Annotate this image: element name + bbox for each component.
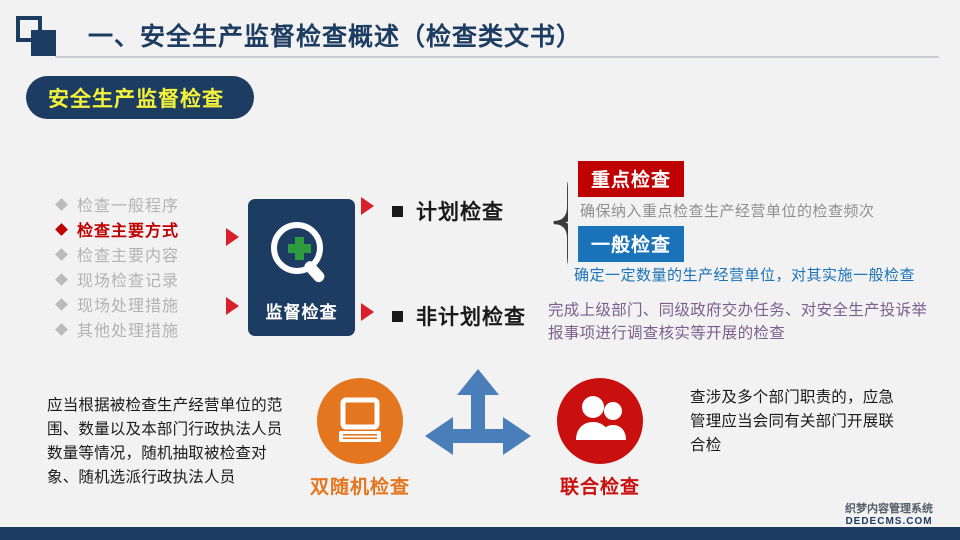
square-bullet-icon: [392, 311, 403, 322]
nav-item-site-measures[interactable]: 现场处理措施: [57, 292, 227, 316]
watermark-en-text: DEDECMS.COM: [845, 516, 933, 527]
diamond-bullet-icon: [55, 198, 68, 211]
title-divider: [55, 56, 939, 58]
double-random-inspection-block[interactable]: 双随机检查: [310, 378, 410, 499]
supervision-inspection-card[interactable]: 监督检查: [248, 199, 355, 336]
nav-item-general-procedure[interactable]: 检查一般程序: [57, 192, 227, 216]
nav-item-other-measures[interactable]: 其他处理措施: [57, 317, 227, 341]
nav-item-label: 现场处理措施: [77, 292, 179, 316]
joint-inspection-label: 联合检查: [557, 472, 643, 499]
badge-general-description: 确定一定数量的生产经营单位，对其实施一般检查: [574, 264, 915, 285]
magnifier-plus-icon: [266, 219, 338, 290]
red-arrow-right-icon: [361, 197, 374, 215]
double-random-label: 双随机检查: [310, 472, 410, 499]
square-filled-shape: [31, 30, 56, 56]
nav-item-label: 检查主要内容: [77, 242, 179, 266]
diamond-bullet-icon: [55, 298, 68, 311]
square-bullet-icon: [392, 206, 403, 217]
branch-planned-inspection: 计划检查: [392, 196, 504, 226]
diamond-bullet-icon: [55, 248, 68, 261]
branch-label: 非计划检查: [416, 301, 526, 331]
nav-item-label: 现场检查记录: [77, 267, 179, 291]
tri-directional-arrow-icon: [423, 367, 533, 472]
supervision-card-label: 监督检查: [248, 298, 355, 323]
curly-brace-icon: {: [542, 160, 568, 280]
unplanned-inspection-note: 完成上级部门、同级政府交办任务、对安全生产投诉举报事项进行调查核实等开展的检查: [548, 299, 940, 345]
computer-icon: [317, 378, 403, 464]
nav-item-label: 其他处理措施: [77, 317, 179, 341]
badge-label: 一般检查: [591, 235, 671, 256]
badge-general-inspection: 一般检查: [578, 226, 684, 262]
watermark: 织梦内容管理系统 DEDECMS.COM: [845, 500, 933, 527]
diamond-bullet-icon: [55, 223, 68, 236]
footer-bar: [0, 527, 960, 540]
overlapping-squares-icon: [16, 16, 62, 56]
branch-label: 计划检查: [416, 196, 504, 226]
nav-item-label: 检查一般程序: [77, 192, 179, 216]
two-people-icon: [557, 378, 643, 464]
red-arrow-right-icon: [226, 228, 239, 246]
nav-item-main-content[interactable]: 检查主要内容: [57, 242, 227, 266]
branch-unplanned-inspection: 非计划检查: [392, 301, 526, 331]
badge-key-description: 确保纳入重点检查生产经营单位的检查频次: [580, 200, 875, 221]
slide-canvas: 一、安全生产监督检查概述（检查类文书） 安全生产监督检查 检查一般程序 检查主要…: [0, 0, 960, 540]
nav-item-site-record[interactable]: 现场检查记录: [57, 267, 227, 291]
red-arrow-right-icon: [226, 297, 239, 315]
red-arrow-right-icon: [361, 303, 374, 321]
nav-list: 检查一般程序 检查主要方式 检查主要内容 现场检查记录 现场处理措施 其他处理措…: [57, 192, 227, 342]
nav-item-label: 检查主要方式: [77, 217, 179, 241]
nav-item-main-methods[interactable]: 检查主要方式: [57, 217, 227, 241]
badge-key-inspection: 重点检查: [578, 161, 684, 197]
diamond-bullet-icon: [55, 323, 68, 336]
random-inspection-description: 应当根据被检查生产经营单位的范围、数量以及本部门行政执法人员数量等情况，随机抽取…: [47, 394, 287, 490]
watermark-cn-text: 织梦内容管理系统: [845, 500, 933, 516]
joint-inspection-description: 查涉及多个部门职责的，应急管理应当会同有关部门开展联合检: [690, 386, 905, 458]
section-pill-label: 安全生产监督检查: [48, 83, 224, 113]
joint-inspection-block[interactable]: 联合检查: [557, 378, 643, 499]
badge-label: 重点检查: [591, 170, 671, 191]
section-pill: 安全生产监督检查: [26, 76, 254, 119]
diamond-bullet-icon: [55, 273, 68, 286]
page-title: 一、安全生产监督检查概述（检查类文书）: [88, 17, 582, 53]
